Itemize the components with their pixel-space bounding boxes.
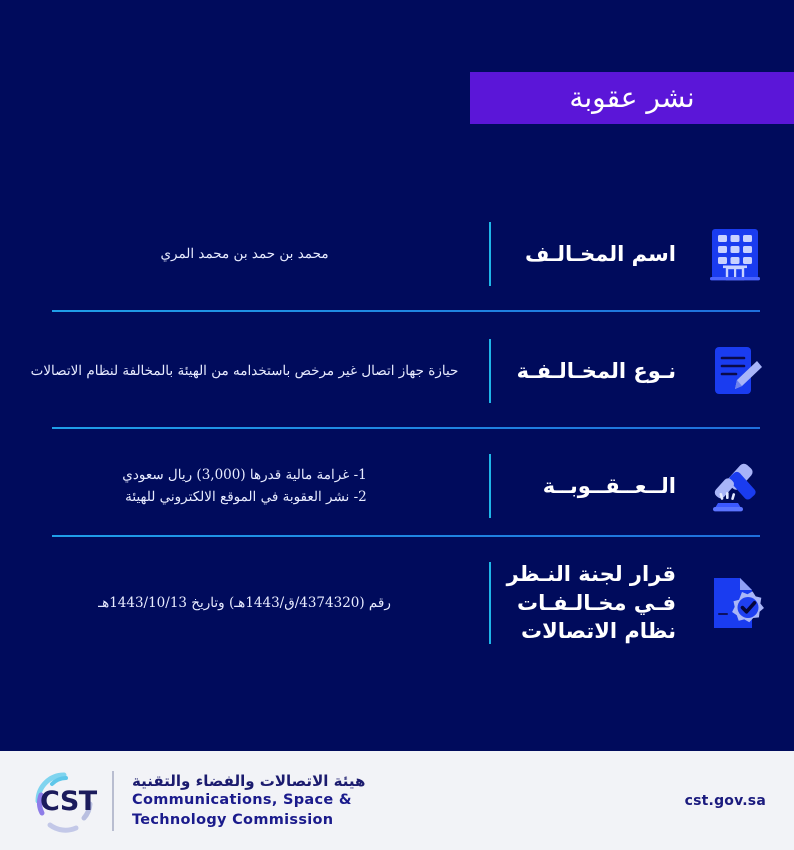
- document-pen-icon: [676, 342, 794, 400]
- committee-label-line-3: نظام الاتصالات: [521, 619, 676, 643]
- row-divider: [489, 562, 491, 644]
- header: نشر عقوبة: [0, 0, 794, 150]
- cst-logo-icon: CST: [30, 768, 104, 834]
- page-title-banner: نشر عقوبة: [470, 72, 794, 124]
- footer: CST هيئة الاتصالات والفضاء والتقنية Comm…: [0, 751, 794, 850]
- penalty-line-2: 2- نشر العقوبة في الموقع الالكتروني للهي…: [125, 489, 367, 505]
- row-value-committee-decision: رقم (4374320/ق/1443هـ) وتاريخ 1443/10/13…: [0, 592, 489, 614]
- row-label-violation-type: نـوع المخـالـفـة: [491, 357, 676, 386]
- org-name-arabic: هيئة الاتصالات والفضاء والتقنية: [132, 772, 365, 791]
- committee-label-line-2: فـي مخـالـفـات: [517, 591, 676, 615]
- row-separator-1: [52, 310, 760, 312]
- org-name-english-line-2: Technology Commission: [132, 811, 365, 830]
- penalty-publication-card: نشر عقوبة: [0, 0, 794, 850]
- committee-label-line-1: قرار لجنة النـظر: [507, 562, 676, 586]
- website-url[interactable]: cst.gov.sa: [685, 793, 766, 809]
- row-label-committee-decision: قرار لجنة النـظر فـي مخـالـفـات نظام الا…: [491, 560, 676, 647]
- row-violation-type: نـوع المخـالـفـة حيازة جهاز اتصال غير مر…: [0, 325, 794, 417]
- row-separator-3: [52, 535, 760, 537]
- page-title: نشر عقوبة: [569, 84, 694, 112]
- row-violator-name: اسم المخـالـف محمد بن حمد بن محمد المري: [0, 208, 794, 300]
- row-separator-2: [52, 427, 760, 429]
- cst-wordmark: CST: [40, 786, 97, 817]
- row-value-violator-name: محمد بن حمد بن محمد المري: [0, 243, 489, 265]
- committee-label-lines: قرار لجنة النـظر فـي مخـالـفـات نظام الا…: [505, 560, 676, 647]
- org-name-english-line-1: Communications, Space &: [132, 791, 365, 810]
- building-icon: [676, 225, 794, 283]
- row-label-violator-name: اسم المخـالـف: [491, 240, 676, 269]
- detail-rows: اسم المخـالـف محمد بن حمد بن محمد المري: [0, 150, 794, 751]
- footer-divider: [112, 771, 114, 831]
- penalty-line-1: 1- غرامة مالية قدرها (3,000) ريال سعودي: [122, 467, 366, 483]
- row-committee-decision: قرار لجنة النـظر فـي مخـالـفـات نظام الا…: [0, 548, 794, 658]
- gavel-icon: [676, 457, 794, 515]
- row-value-penalty: 1- غرامة مالية قدرها (3,000) ريال سعودي …: [0, 464, 489, 509]
- row-penalty: الــعــقــوبــة 1- غرامة مالية قدرها (3,…: [0, 440, 794, 532]
- row-label-penalty: الــعــقــوبــة: [491, 472, 676, 501]
- row-divider: [489, 339, 491, 403]
- penalty-list: 1- غرامة مالية قدرها (3,000) ريال سعودي …: [122, 464, 366, 509]
- organization-names: هيئة الاتصالات والفضاء والتقنية Communic…: [132, 772, 365, 830]
- document-check-gear-icon: [676, 572, 794, 634]
- row-value-violation-type: حيازة جهاز اتصال غير مرخص باستخدامه من ا…: [0, 360, 489, 382]
- row-divider: [489, 222, 491, 286]
- row-divider: [489, 454, 491, 518]
